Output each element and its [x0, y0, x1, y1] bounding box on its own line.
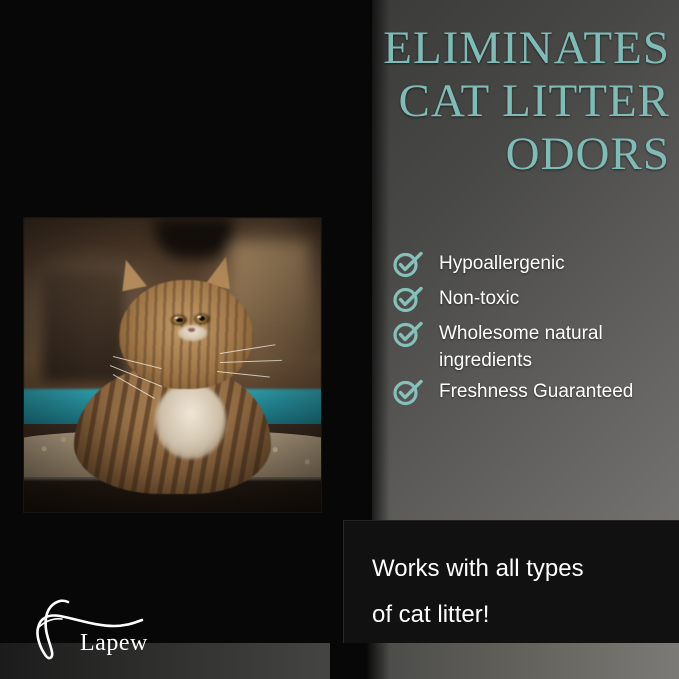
benefits-list: Hypoallergenic Non-toxic Wholesome natur…: [392, 250, 672, 413]
benefit-label: Freshness Guaranteed: [439, 378, 633, 405]
product-ad-card: ELIMINATES CAT LITTER ODORS: [0, 0, 679, 679]
benefit-label: Non-toxic: [439, 285, 519, 312]
circle-check-icon: [392, 283, 423, 314]
benefit-label: Hypoallergenic: [439, 250, 565, 277]
caption-text: Works with all types of cat litter!: [372, 546, 662, 638]
photo-vignette: [24, 218, 321, 512]
product-photo: [24, 218, 321, 512]
benefit-item: Wholesome natural ingredients: [392, 320, 672, 374]
headline: ELIMINATES CAT LITTER ODORS: [300, 22, 670, 181]
circle-check-icon: [392, 318, 423, 349]
caption-box: Works with all types of cat litter!: [343, 520, 679, 643]
benefit-item: Non-toxic: [392, 285, 672, 316]
benefit-item: Freshness Guaranteed: [392, 378, 672, 409]
benefit-label: Wholesome natural ingredients: [439, 320, 671, 374]
benefit-item: Hypoallergenic: [392, 250, 672, 281]
brand-name: Lapew: [80, 630, 148, 657]
circle-check-icon: [392, 248, 423, 279]
brand-logo: Lapew: [22, 596, 182, 662]
circle-check-icon: [392, 376, 423, 407]
